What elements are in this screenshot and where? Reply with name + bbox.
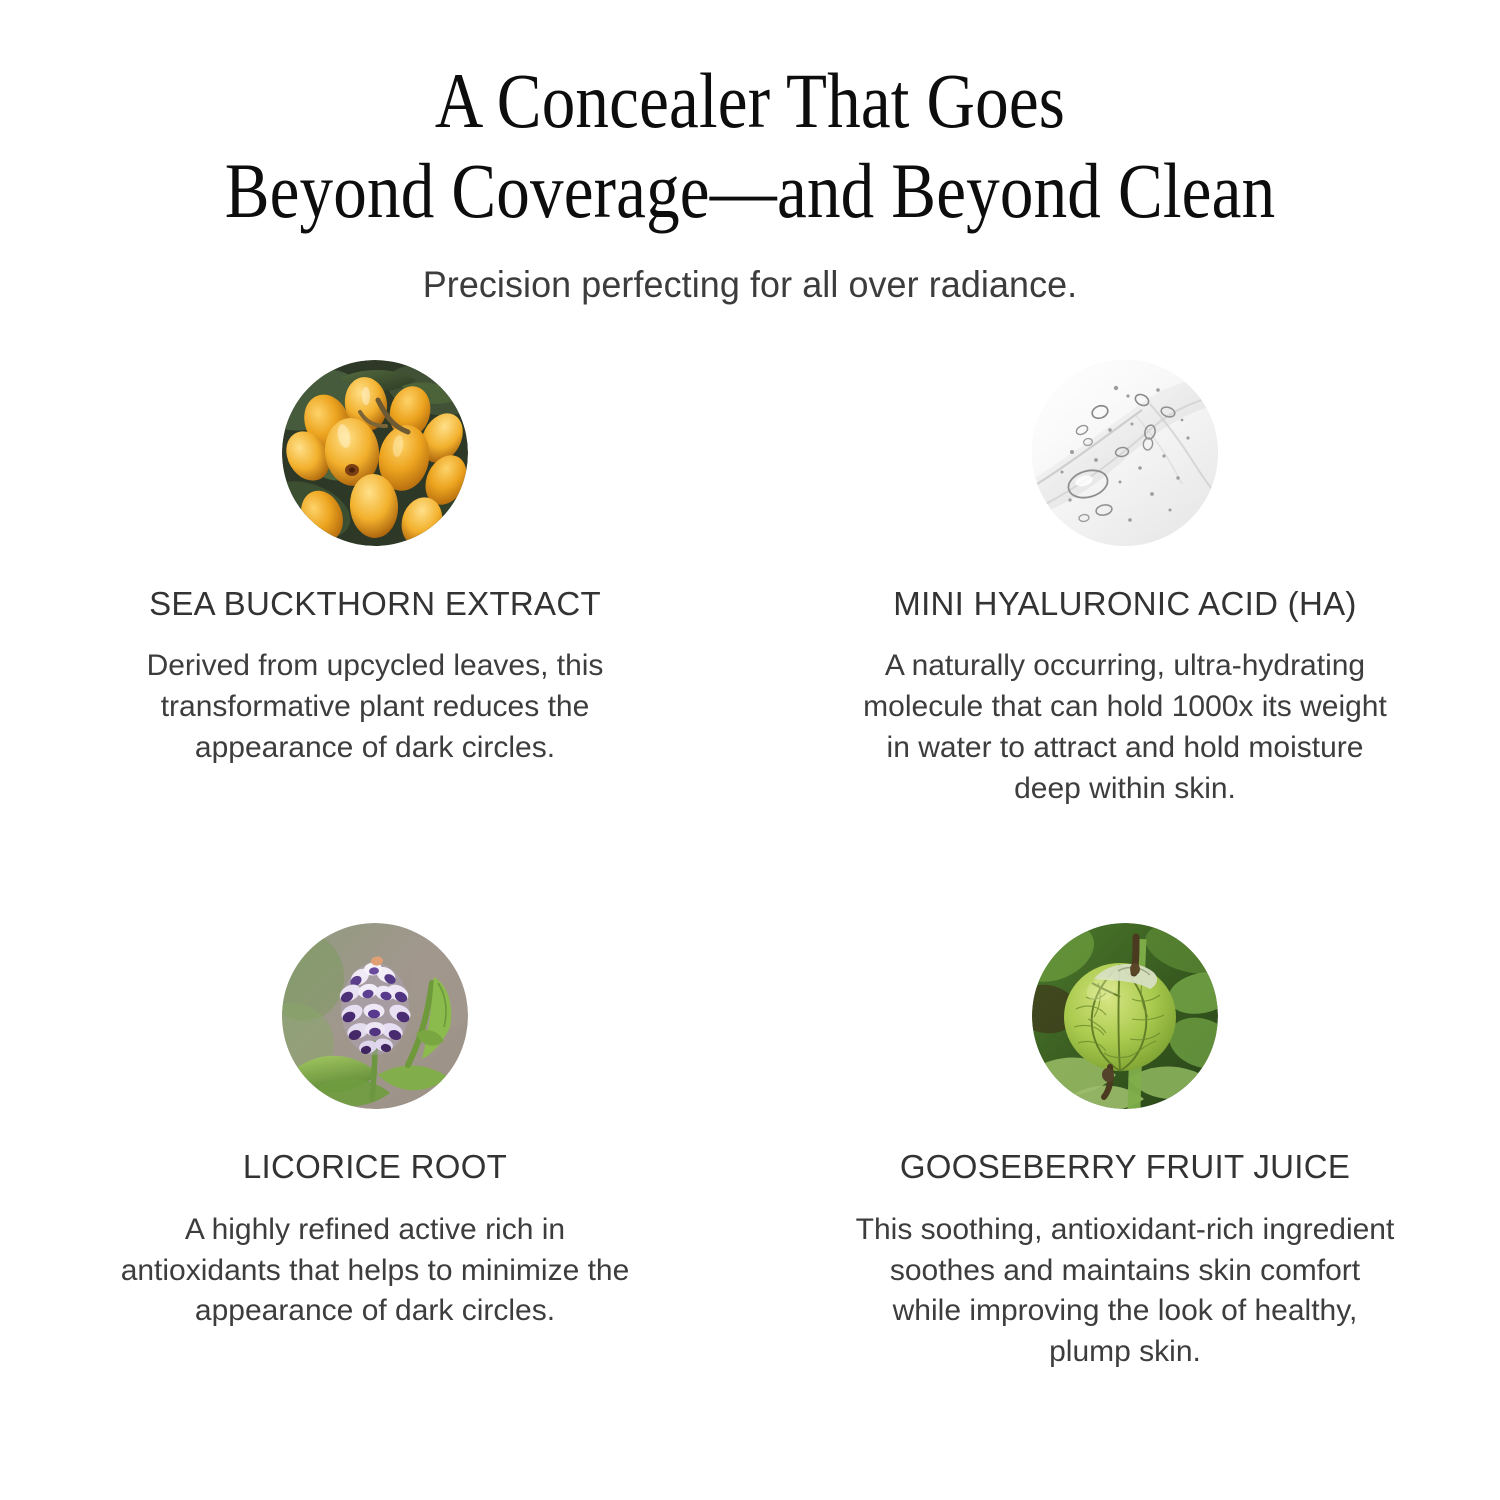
ingredient-card-gooseberry-fruit-juice: GOOSEBERRY FRUIT JUICE This soothing, an…: [750, 923, 1500, 1372]
page-header: A Concealer That Goes Beyond Coverage—an…: [0, 0, 1500, 307]
ingredient-title: MINI HYALURONIC ACID (HA): [893, 586, 1356, 622]
ingredient-benefits-page: A Concealer That Goes Beyond Coverage—an…: [0, 0, 1500, 1500]
ingredient-card-licorice-root: LICORICE ROOT A highly refined active ri…: [0, 923, 750, 1372]
ingredient-description: This soothing, antioxidant-rich ingredie…: [855, 1210, 1395, 1373]
page-title-line-2: Beyond Coverage—and Beyond Clean: [105, 146, 1395, 236]
page-subtitle: Precision perfecting for all over radian…: [23, 263, 1478, 307]
ingredient-card-sea-buckthorn-extract: SEA BUCKTHORN EXTRACT Derived from upcyc…: [0, 360, 750, 809]
ingredient-description: A naturally occurring, ultra-hydrating m…: [855, 646, 1395, 809]
ingredient-title: LICORICE ROOT: [243, 1149, 507, 1185]
ingredient-title: GOOSEBERRY FRUIT JUICE: [900, 1149, 1350, 1185]
ingredients-grid: SEA BUCKTHORN EXTRACT Derived from upcyc…: [0, 360, 1500, 1373]
licorice-root-flower-icon: [282, 923, 468, 1109]
clear-gel-texture-icon: [1032, 360, 1218, 546]
ingredient-description: Derived from upcycled leaves, this trans…: [115, 646, 635, 768]
page-title: A Concealer That Goes Beyond Coverage—an…: [105, 56, 1395, 237]
page-title-line-1: A Concealer That Goes: [105, 56, 1395, 146]
sea-buckthorn-berries-icon: [282, 360, 468, 546]
ingredient-description: A highly refined active rich in antioxid…: [115, 1210, 635, 1332]
ingredient-card-mini-hyaluronic-acid: MINI HYALURONIC ACID (HA) A naturally oc…: [750, 360, 1500, 809]
gooseberry-husk-icon: [1032, 923, 1218, 1109]
ingredient-title: SEA BUCKTHORN EXTRACT: [149, 586, 601, 622]
